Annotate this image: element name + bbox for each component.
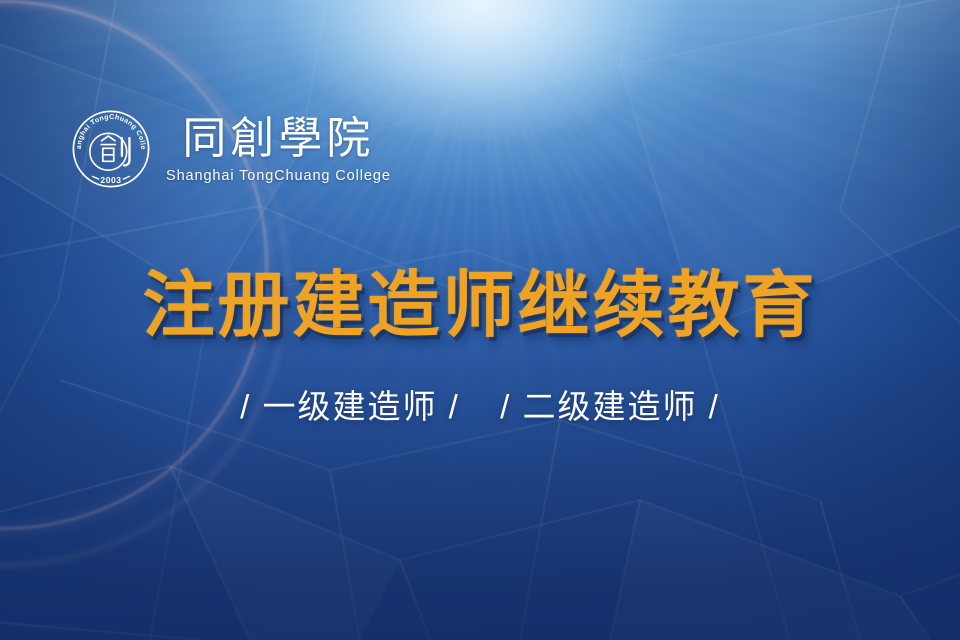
college-logo: Shanghai TongChuang College (70, 108, 391, 190)
svg-text:2003: 2003 (100, 175, 121, 185)
logo-wordmark-cn: 同創學院 (182, 117, 374, 161)
subtitle: / 一级建造师 / / 二级建造师 / (0, 380, 960, 428)
logo-wordmark-en: Shanghai TongChuang College (166, 168, 391, 184)
promo-banner: Shanghai TongChuang College (0, 0, 960, 640)
subtitle-segment-level-1: / 一级建造师 / (240, 388, 460, 425)
banner-content: Shanghai TongChuang College (0, 0, 960, 640)
tongchuang-college-seal-emblem: Shanghai TongChuang College (70, 108, 152, 190)
logo-wordmark: 同創學院 Shanghai TongChuang College (166, 115, 391, 184)
subtitle-segment-level-2: / 二级建造师 / (500, 388, 720, 425)
page-title: 注册建造师继续教育 (0, 246, 960, 351)
